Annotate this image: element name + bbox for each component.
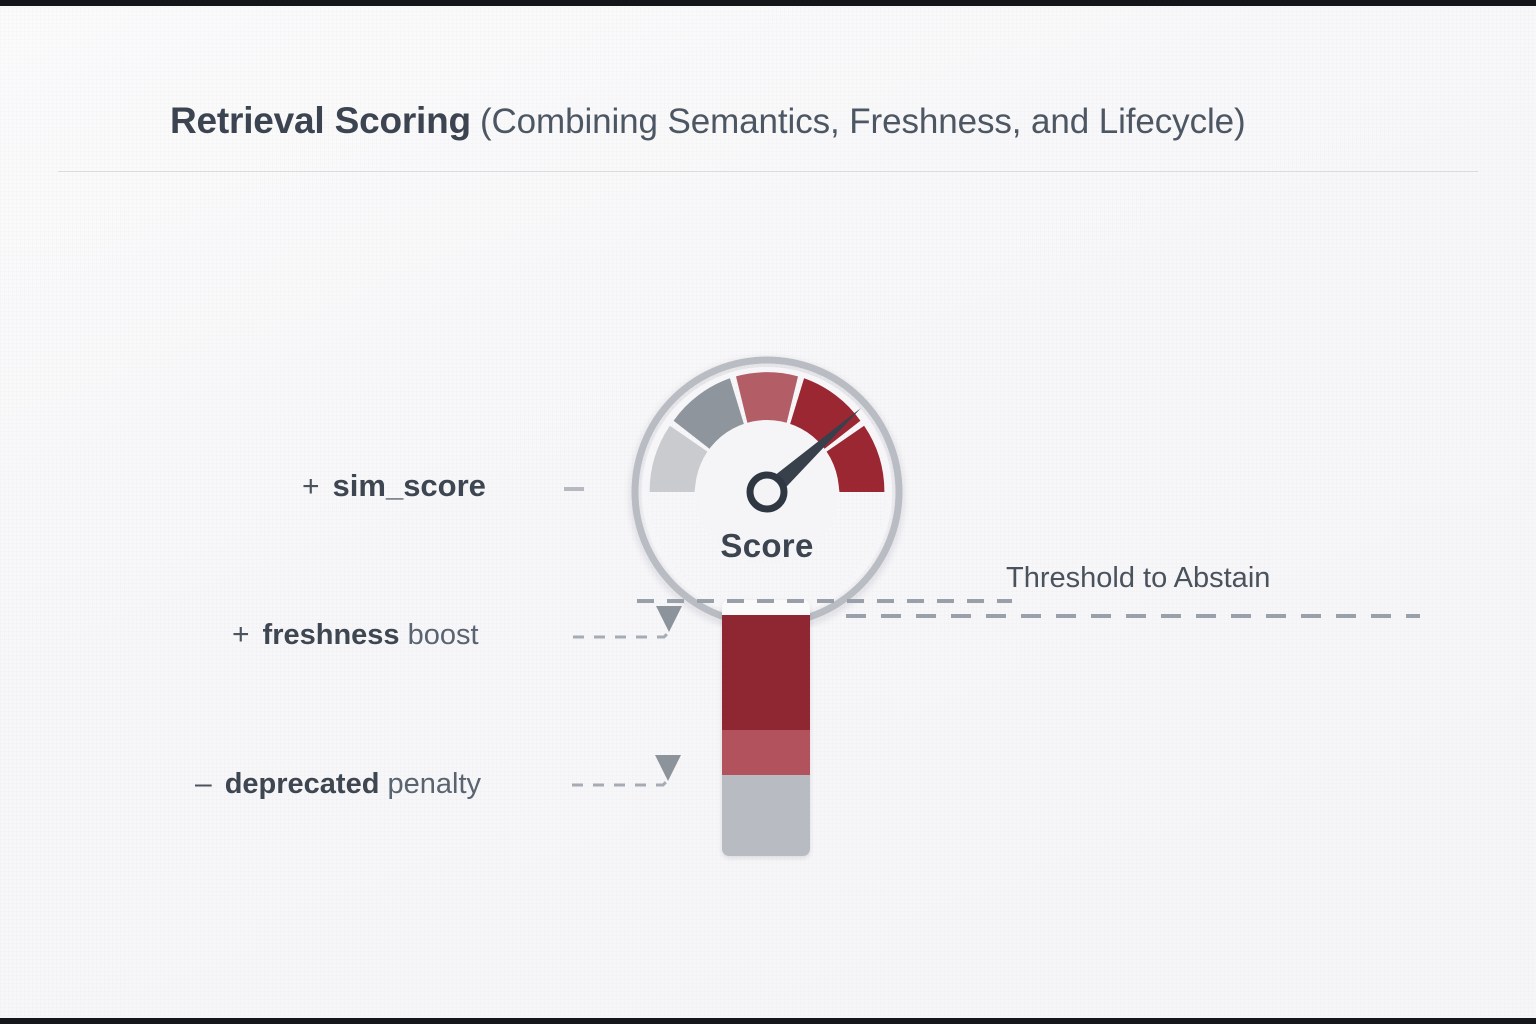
callout-deprecated-term: deprecated	[225, 768, 380, 800]
callout-deprecated-penalty: –deprecated penalty	[195, 767, 481, 801]
score-stack-bar	[722, 600, 810, 856]
gauge-needle-hub	[750, 475, 784, 509]
score-gauge	[617, 327, 917, 627]
callout-freshness-suffix	[400, 619, 408, 651]
bar-low-segment	[722, 775, 810, 856]
callout-sim-score-term: sim_score	[333, 468, 486, 503]
page-title-subtitle: (Combining Semantics, Freshness, and Lif…	[480, 102, 1246, 142]
top-film-border	[0, 0, 1536, 6]
callout-freshness-suffix-text: boost	[408, 619, 479, 651]
gauge-center-label: Score	[617, 527, 917, 565]
callout-sim-score-sign: +	[302, 470, 320, 503]
title-divider	[58, 171, 1478, 172]
bar-high-segment	[722, 615, 810, 730]
bar-mid-segment	[722, 730, 810, 775]
gauge-segment-3	[736, 372, 798, 425]
callout-deprecated-sign: –	[195, 767, 212, 800]
diagram-canvas: Retrieval Scoring (Combining Semantics, …	[0, 0, 1536, 1024]
callout-freshness-sign: +	[232, 618, 250, 651]
callout-deprecated-suffix-text: penalty	[387, 768, 481, 800]
page-title: Retrieval Scoring (Combining Semantics, …	[170, 100, 1400, 162]
deprecated-arrow-icon	[655, 755, 681, 781]
bar-cap-segment	[722, 600, 810, 615]
deprecated-leader-line	[572, 755, 668, 785]
callout-sim-score: +sim_score	[302, 468, 486, 504]
page-title-strong: Retrieval Scoring	[170, 100, 471, 142]
callout-freshness-boost: +freshness boost	[232, 618, 479, 652]
threshold-to-abstain-label: Threshold to Abstain	[1006, 562, 1270, 595]
callout-freshness-term: freshness	[263, 619, 400, 651]
bottom-film-border	[0, 1018, 1536, 1024]
